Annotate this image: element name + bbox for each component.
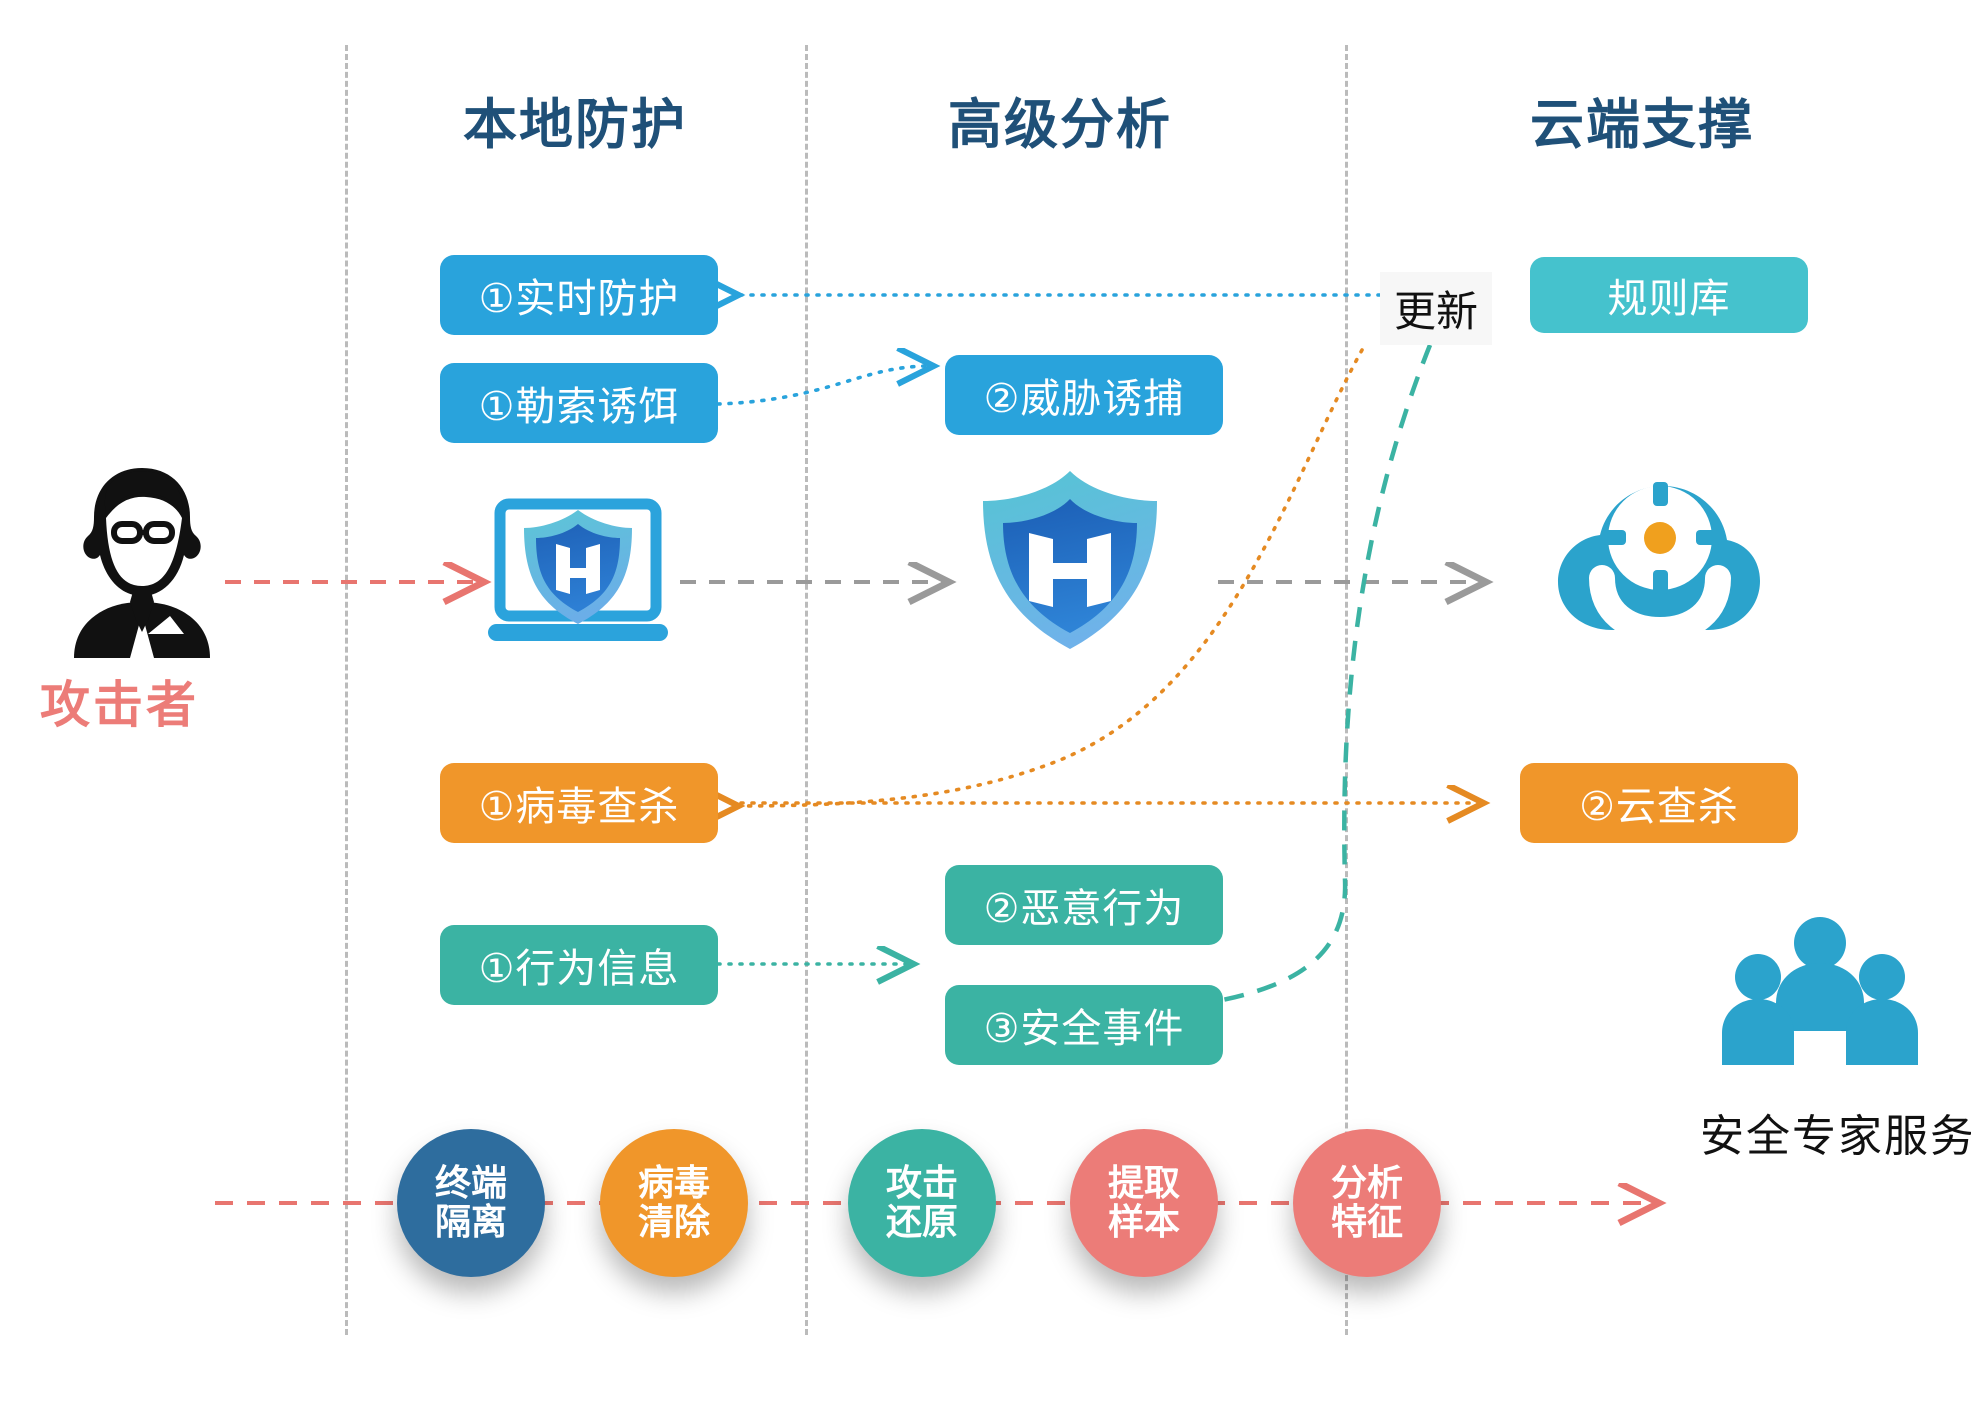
column-title-advanced: 高级分析 [948, 80, 1172, 159]
box-malicious-behavior[interactable]: ②恶意行为 [945, 865, 1223, 945]
pipeline-step-line2: 特征 [1331, 1203, 1403, 1242]
pipeline-step-line1: 终端 [435, 1164, 507, 1203]
pipeline-step-line2: 还原 [886, 1203, 958, 1242]
box-behavior-info[interactable]: ①行为信息 [440, 925, 718, 1005]
pipeline-step-line2: 清除 [638, 1203, 710, 1242]
box-rule-library[interactable]: 规则库 [1530, 257, 1808, 333]
three-people-icon [1720, 915, 1920, 1075]
attacker-label: 攻击者 [40, 665, 199, 737]
pipeline-step-line1: 提取 [1108, 1164, 1180, 1203]
pipeline-step-line1: 攻击 [886, 1164, 958, 1203]
pipeline-step-line2: 样本 [1108, 1203, 1180, 1242]
shield-h-icon [955, 455, 1185, 655]
pipeline-step-virus-removal[interactable]: 病毒 清除 [600, 1129, 748, 1277]
column-separator-1 [345, 45, 348, 1335]
pipeline-step-attack-restore[interactable]: 攻击 还原 [848, 1129, 996, 1277]
expert-service-label: 安全专家服务 [1700, 1100, 1971, 1164]
column-title-cloud: 云端支撑 [1530, 80, 1754, 159]
pipeline-step-line1: 病毒 [638, 1164, 710, 1203]
pipeline-step-extract-sample[interactable]: 提取 样本 [1070, 1129, 1218, 1277]
box-realtime-protect[interactable]: ①实时防护 [440, 255, 718, 335]
box-ransom-bait[interactable]: ①勒索诱饵 [440, 363, 718, 443]
box-cloud-scan[interactable]: ②云查杀 [1520, 763, 1798, 843]
pipeline-step-terminal-isolation[interactable]: 终端 隔离 [397, 1129, 545, 1277]
box-security-event[interactable]: ③安全事件 [945, 985, 1223, 1065]
column-separator-2 [805, 45, 808, 1335]
pipeline-step-analyze-feature[interactable]: 分析 特征 [1293, 1129, 1441, 1277]
connector-cloud-update-to-malicious [1195, 345, 1430, 1005]
box-virus-scan[interactable]: ①病毒查杀 [440, 763, 718, 843]
diagram-canvas: 本地防护 高级分析 云端支撑 [0, 0, 1971, 1421]
cloud-target-icon [1550, 480, 1765, 640]
laptop-shield-icon [478, 492, 678, 652]
update-annotation-label: 更新 [1380, 272, 1492, 345]
column-title-local: 本地防护 [463, 80, 687, 159]
pipeline-step-line1: 分析 [1331, 1164, 1403, 1203]
box-threat-trap[interactable]: ②威胁诱捕 [945, 355, 1223, 435]
attacker-person-icon [60, 462, 225, 662]
connector-bait-to-trap [718, 366, 930, 404]
pipeline-step-line2: 隔离 [435, 1203, 507, 1242]
